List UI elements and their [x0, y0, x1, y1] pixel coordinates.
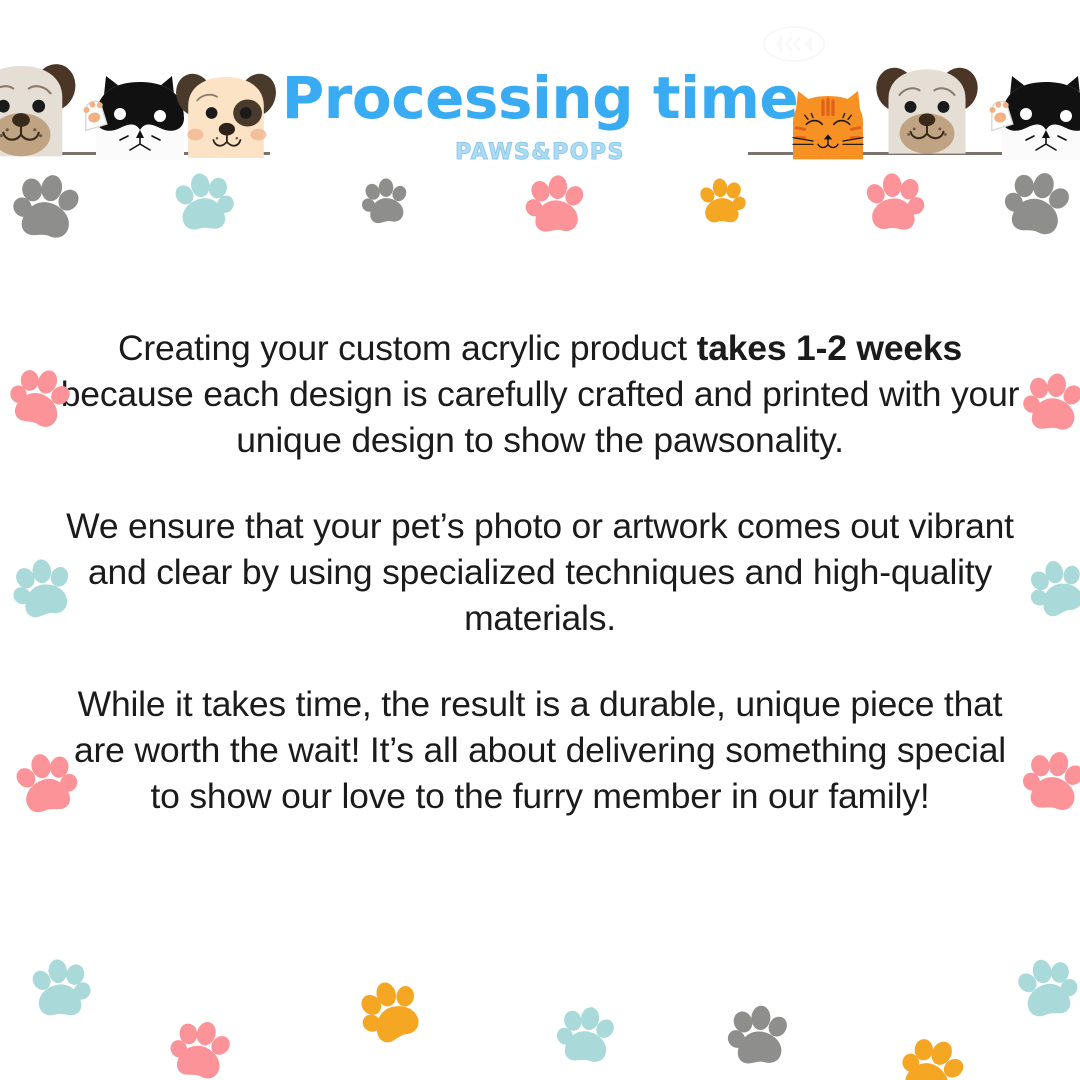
paw-print-teal: [1000, 938, 1080, 1028]
paragraph-quality-assurance: We ensure that your pet’s photo or artwo…: [60, 503, 1020, 641]
paw-print-gray: [719, 989, 800, 1070]
paw-print-gray: [357, 168, 415, 226]
body-text: Creating your custom acrylic product: [118, 328, 697, 368]
paw-print-teal: [546, 988, 629, 1071]
body-copy: Creating your custom acrylic product tak…: [60, 325, 1020, 819]
paw-print-teal: [18, 942, 99, 1023]
fishbone-icon: [762, 24, 826, 64]
paw-print-pink: [518, 160, 597, 239]
paw-print-orange: [342, 958, 438, 1054]
paw-print-pink: [1011, 731, 1080, 821]
paw-print-teal: [1015, 541, 1080, 626]
emphasis-text: takes 1-2 weeks: [697, 328, 962, 368]
poster-canvas: Processing time PAWS&POPS Creating your …: [0, 0, 1080, 1080]
paw-print-orange: [689, 165, 753, 229]
paw-print-pink: [1013, 355, 1080, 439]
body-text: We ensure that your pet’s photo or artwo…: [66, 506, 1014, 638]
paw-print-teal: [160, 155, 244, 239]
body-text: because each design is carefully crafted…: [61, 374, 1020, 460]
paragraph-processing-duration: Creating your custom acrylic product tak…: [60, 325, 1020, 463]
paw-print-gray: [0, 152, 97, 249]
page-title: Processing time: [0, 64, 1080, 132]
paw-print-pink: [854, 158, 933, 237]
paw-print-pink: [157, 999, 249, 1080]
body-text: While it takes time, the result is a dur…: [74, 684, 1006, 816]
paw-print-teal: [2, 542, 83, 623]
paragraph-worth-the-wait: While it takes time, the result is a dur…: [60, 681, 1020, 819]
paw-print-orange: [885, 1013, 988, 1080]
